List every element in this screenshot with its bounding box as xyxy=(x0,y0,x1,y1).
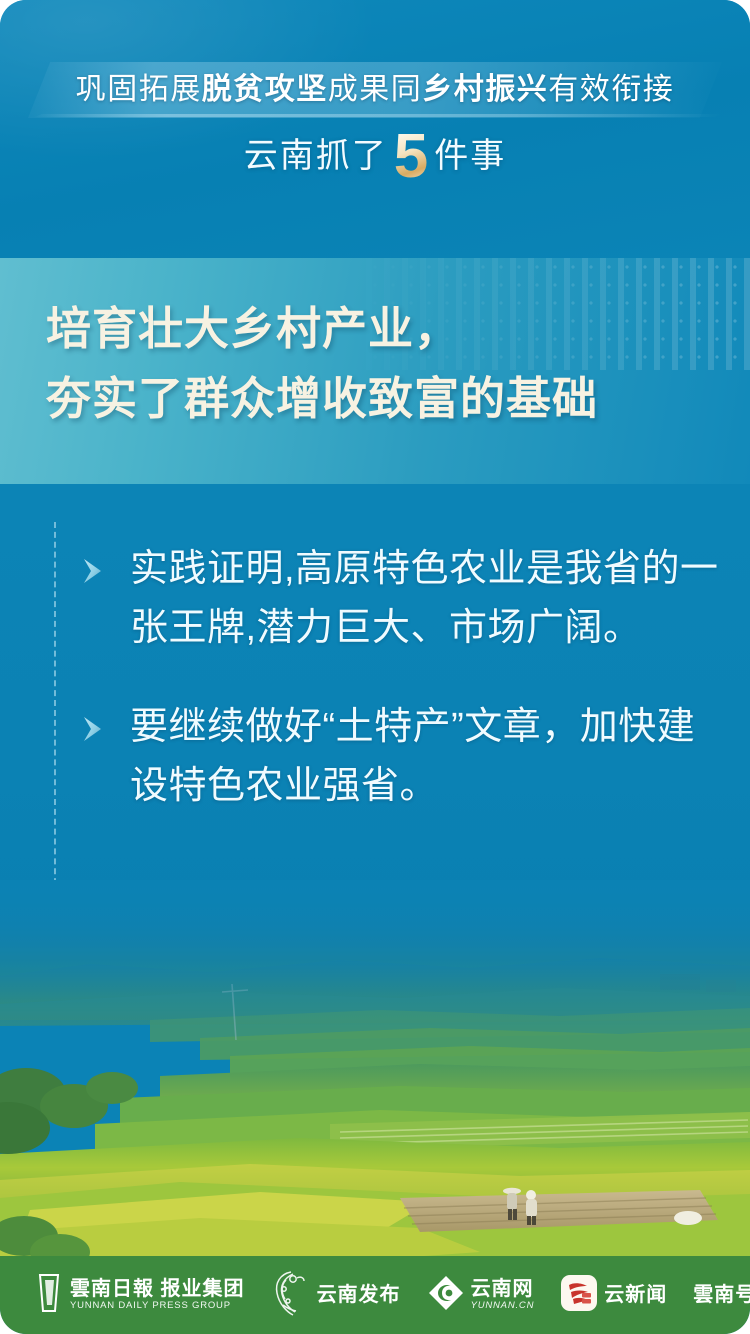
peacock-icon xyxy=(271,1267,311,1324)
white-sack xyxy=(674,1211,702,1225)
header-banner-text: 巩固拓展脱贫攻坚成果同乡村振兴有效衔接 xyxy=(0,66,750,114)
list-item: 要继续做好“土特产”文章，加快建设特色农业强省。 xyxy=(80,698,720,816)
subtitle-number: 5 xyxy=(394,130,430,184)
logo-text-group: 雲南号 xyxy=(693,1284,750,1306)
main-title: 培育壮大乡村产业， 夯实了群众增收致富的基础 xyxy=(46,294,746,434)
logo-yunnan-net: 云南网 YUNNAN.CN xyxy=(427,1274,535,1317)
footer-logo-bar: 雲南日報 报业集团 YUNNAN DAILY PRESS GROUP xyxy=(0,1256,750,1334)
logo-yunnan-hao: 雲南号 xyxy=(693,1284,750,1306)
chevron-right-icon xyxy=(80,714,110,744)
logo-cn-label: 云南发布 xyxy=(317,1284,401,1306)
main-title-line-2: 夯实了群众增收致富的基础 xyxy=(46,364,746,434)
logo-cn-label: 雲南号 xyxy=(693,1284,750,1306)
logo-yunnan-daily-press-group: 雲南日報 报业集团 YUNNAN DAILY PRESS GROUP xyxy=(34,1271,245,1320)
logo-text-group: 云新闻 xyxy=(604,1284,667,1306)
list-item: 实践证明,高原特色农业是我省的一张王牌,潜力巨大、市场广阔。 xyxy=(80,540,720,658)
logo-yunnan-fabu: 云南发布 xyxy=(271,1267,401,1324)
bullet-list: 实践证明,高原特色农业是我省的一张王牌,潜力巨大、市场广阔。 xyxy=(80,540,720,856)
banner-part-5: 有效衔接 xyxy=(548,73,674,106)
yun-news-app-icon xyxy=(560,1274,598,1317)
cup-icon xyxy=(34,1271,64,1320)
logo-text-group: 云南网 YUNNAN.CN xyxy=(471,1278,535,1312)
logo-cn-label: 雲南日報 报业集团 xyxy=(70,1278,245,1300)
list-item-text: 实践证明,高原特色农业是我省的一张王牌,潜力巨大、市场广阔。 xyxy=(130,540,720,658)
main-title-line-1: 培育壮大乡村产业， xyxy=(46,304,460,354)
title-section: 培育壮大乡村产业， 夯实了群众增收致富的基础 xyxy=(0,258,750,484)
list-item-text: 要继续做好“土特产”文章，加快建设特色农业强省。 xyxy=(130,698,720,816)
logo-text-group: 雲南日報 报业集团 YUNNAN DAILY PRESS GROUP xyxy=(70,1278,245,1312)
rice-paddy-photo xyxy=(0,880,750,1280)
logo-text-group: 云南发布 xyxy=(317,1284,401,1306)
banner-edge-decoration xyxy=(28,114,722,117)
subtitle-prefix: 云南抓了 xyxy=(244,138,388,175)
poster-card: 巩固拓展脱贫攻坚成果同乡村振兴有效衔接 云南抓了5件事 培育壮大乡村产业， 夯实… xyxy=(0,0,750,1334)
header-subtitle: 云南抓了5件事 xyxy=(0,130,750,184)
header-section: 巩固拓展脱贫攻坚成果同乡村振兴有效衔接 云南抓了5件事 xyxy=(0,0,750,258)
dashed-rail-decoration xyxy=(54,522,56,894)
poster-root: 巩固拓展脱贫攻坚成果同乡村振兴有效衔接 云南抓了5件事 培育壮大乡村产业， 夯实… xyxy=(0,0,750,1334)
logo-en-label: YUNNAN DAILY PRESS GROUP xyxy=(70,1300,245,1312)
logo-cn-label: 云新闻 xyxy=(604,1284,667,1306)
banner-part-4: 乡村振兴 xyxy=(422,73,548,106)
chevron-right-icon xyxy=(80,556,110,586)
logo-yun-news: 云新闻 xyxy=(560,1274,667,1317)
banner-part-2: 脱贫攻坚 xyxy=(202,73,328,106)
logo-en-label: YUNNAN.CN xyxy=(471,1300,535,1312)
yunnan-net-icon xyxy=(427,1274,465,1317)
subtitle-suffix: 件事 xyxy=(434,138,506,175)
logo-cn-label: 云南网 xyxy=(471,1278,535,1300)
banner-part-1: 巩固拓展 xyxy=(76,73,202,106)
banner-part-3: 成果同 xyxy=(328,73,423,106)
